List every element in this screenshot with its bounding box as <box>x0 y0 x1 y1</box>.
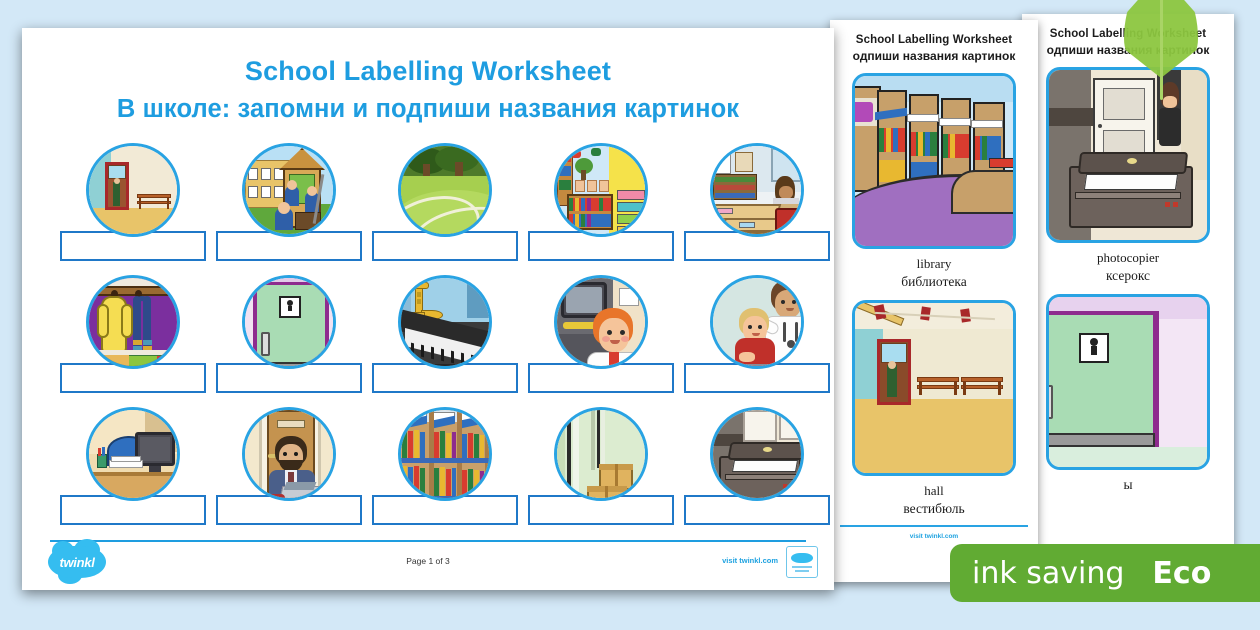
mini-caption-2a: library библиотека <box>830 256 1038 290</box>
page-title-en: School Labelling Worksheet <box>22 28 834 87</box>
cloakroom-illustration <box>86 275 180 369</box>
twinkl-logo[interactable]: twinkl <box>48 546 106 578</box>
worksheet-item-toilets <box>216 275 362 393</box>
stacked-worksheet-page-2[interactable]: School Labelling Worksheet одпиши назван… <box>830 20 1038 582</box>
mini-title-ru-2: одпиши названия картинок <box>830 49 1038 63</box>
photocopier-illustration <box>710 407 804 501</box>
footer-divider <box>50 540 806 542</box>
worksheet-item-office <box>60 407 206 525</box>
badge-line-2 <box>795 570 809 572</box>
toilet-door-illustration <box>242 275 336 369</box>
dining-hall-illustration <box>710 143 804 237</box>
worksheet-item-medical-room <box>684 275 830 393</box>
mini-footer-divider-2 <box>840 525 1028 527</box>
worksheet-item-field <box>372 143 518 261</box>
twinkl-quality-badge <box>786 546 818 578</box>
toilet-door-illustration <box>1046 294 1210 470</box>
worksheet-item-dining-hall <box>684 143 830 261</box>
worksheet-item-head-office <box>216 407 362 525</box>
mini-caption-ru-3b: ы <box>1022 477 1234 493</box>
office-illustration <box>86 407 180 501</box>
mini-caption-3b: ы <box>1022 477 1234 493</box>
mini-title-en-2: School Labelling Worksheet <box>830 34 1038 46</box>
mini-header-2: School Labelling Worksheet одпиши назван… <box>830 20 1038 63</box>
playground-illustration <box>242 143 336 237</box>
worksheet-item-store-room <box>528 407 674 525</box>
worksheet-item-photocopier <box>684 407 830 525</box>
leaf-vein-icon <box>1160 0 1163 100</box>
worksheet-item-playground <box>216 143 362 261</box>
badge-cloud-icon <box>791 553 813 563</box>
store-room-illustration <box>554 407 648 501</box>
music-room-illustration <box>398 275 492 369</box>
mini-caption-en-2b: hall <box>830 483 1038 499</box>
worksheet-item-hall <box>60 143 206 261</box>
page-title-ru: В школе: запомни и подпиши названия карт… <box>22 95 834 124</box>
mini-caption-ru-2b: вестибюль <box>830 501 1038 517</box>
hall-interior-illustration <box>852 300 1016 476</box>
ict-suite-illustration <box>554 275 648 369</box>
mini-caption-2b: hall вестибюль <box>830 483 1038 517</box>
stacked-worksheet-page-3[interactable]: School Labelling Worksheet одпиши назван… <box>1022 14 1234 574</box>
worksheet-grid <box>60 143 796 525</box>
ink-saving-eco-badge: ink saving Eco <box>950 544 1260 602</box>
library-interior-illustration <box>852 73 1016 249</box>
eco-label: Eco <box>1152 556 1211 591</box>
field-illustration <box>398 143 492 237</box>
main-worksheet-page[interactable]: School Labelling Worksheet В школе: запо… <box>22 28 834 590</box>
logo-wordmark: twinkl <box>48 546 106 578</box>
ink-saving-label: ink saving <box>972 556 1124 591</box>
mini-visit-link-2[interactable]: visit twinkl.com <box>830 533 1038 540</box>
worksheet-item-music-room <box>372 275 518 393</box>
worksheet-item-classroom <box>528 143 674 261</box>
classroom-illustration <box>554 143 648 237</box>
head-office-illustration <box>242 407 336 501</box>
mini-caption-ru-2a: библиотека <box>830 274 1038 290</box>
mini-caption-en-2a: library <box>830 256 1038 272</box>
medical-room-illustration <box>710 275 804 369</box>
mini-caption-en-3a: photocopier <box>1022 250 1234 266</box>
mini-caption-3a: photocopier ксерокс <box>1022 250 1234 284</box>
badge-line-1 <box>792 566 812 568</box>
page-number-label: Page 1 of 3 <box>22 556 834 566</box>
mini-caption-ru-3a: ксерокс <box>1022 268 1234 284</box>
hall-illustration <box>86 143 180 237</box>
photocopier-illustration <box>1046 67 1210 243</box>
worksheet-item-library <box>372 407 518 525</box>
library-illustration <box>398 407 492 501</box>
visit-twinkl-link[interactable]: visit twinkl.com <box>722 556 778 565</box>
worksheet-item-cloakroom <box>60 275 206 393</box>
worksheet-item-ict-suite <box>528 275 674 393</box>
